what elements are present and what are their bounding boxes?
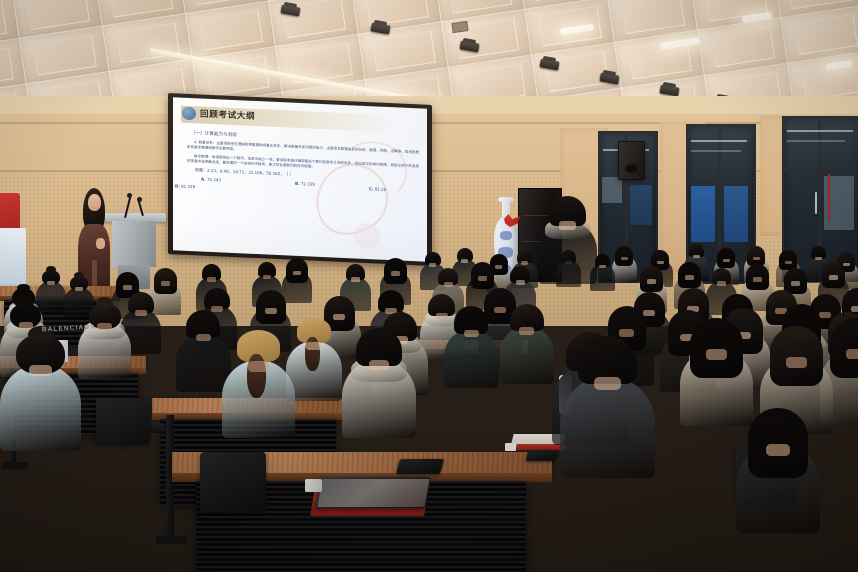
neck <box>293 271 301 275</box>
student-row4-6 <box>444 306 499 390</box>
neck <box>846 349 858 359</box>
neck <box>786 357 806 367</box>
neck <box>123 285 132 289</box>
neck <box>647 279 656 283</box>
neck <box>516 280 525 285</box>
lecture-hall-photo: 回顾考试大纲 （一）计算能力与测验 4. 数量关系：主要测查考生理解和把握事物间… <box>0 0 858 572</box>
hair-bun <box>46 266 56 272</box>
neck <box>135 310 147 316</box>
neck <box>161 281 170 285</box>
neck <box>464 330 479 338</box>
neck <box>753 257 760 261</box>
neck <box>444 282 453 287</box>
neck <box>248 361 268 371</box>
neck <box>196 334 211 342</box>
projection-screen-frame: 回顾考试大纲 （一）计算能力与测验 4. 数量关系：主要测查考生理解和把握事物间… <box>168 93 432 266</box>
presenter-head <box>88 194 101 211</box>
neck <box>75 287 83 291</box>
slide-title: 回顾考试大纲 <box>200 108 255 124</box>
neck <box>351 277 360 281</box>
neck <box>29 365 52 377</box>
neck <box>785 261 792 265</box>
torso <box>444 329 499 388</box>
hair-bun <box>96 297 113 308</box>
slide-option-c: C. 81.20 <box>369 186 386 192</box>
bullet-dot-icon <box>182 107 196 121</box>
neck <box>706 349 726 359</box>
torso <box>560 376 655 478</box>
hair-bun <box>74 272 84 278</box>
neck <box>391 271 400 275</box>
slide-option-d: D. 81.339 <box>175 184 195 190</box>
neck <box>766 444 790 456</box>
neck <box>559 221 575 229</box>
neck <box>306 342 322 350</box>
white-cup[interactable] <box>305 479 322 492</box>
student-foreground-left <box>0 330 81 455</box>
torso <box>500 326 554 384</box>
smartphone-second-desk[interactable] <box>526 450 559 461</box>
neck <box>594 377 621 391</box>
student-standing <box>538 196 597 286</box>
neck <box>207 277 216 281</box>
neck <box>685 275 694 279</box>
slide-body: （一）计算能力与测验 4. 数量关系：主要测查考生理解和把握事物间量化关系、解决… <box>187 130 419 203</box>
wall-speaker <box>618 141 645 180</box>
neck <box>829 275 838 279</box>
neck <box>753 277 762 281</box>
eraser <box>505 443 516 451</box>
neck <box>369 360 390 371</box>
slide-option-b: B. 72.339 <box>295 181 315 187</box>
student-front-hoodie <box>342 328 416 442</box>
neck <box>621 257 628 261</box>
microphone-head <box>127 193 132 198</box>
neck <box>263 275 271 279</box>
slide-option-a: A. 72.243 <box>201 177 221 183</box>
neck <box>723 259 730 263</box>
student-row4-7 <box>500 304 554 387</box>
wall-banner-white <box>0 228 26 290</box>
neck <box>519 327 534 335</box>
student-foreground-denim <box>560 336 655 482</box>
neck <box>521 261 528 265</box>
neck <box>657 261 664 265</box>
tablet-screen[interactable] <box>317 479 429 507</box>
student-back-5 <box>612 246 637 284</box>
tablet[interactable] <box>315 477 430 508</box>
neck <box>791 281 800 285</box>
hair <box>748 408 808 478</box>
neck <box>47 281 55 285</box>
neck <box>693 255 700 259</box>
smartphone-front-desk[interactable] <box>396 459 444 474</box>
neck <box>265 308 277 314</box>
neck <box>717 281 726 285</box>
neck <box>429 263 436 267</box>
student-foreground-rightmost <box>736 408 820 537</box>
projection-screen: 回顾考试大纲 （一）计算能力与测验 4. 数量关系：主要测查考生理解和把握事物间… <box>173 97 427 262</box>
student-front-fleece <box>222 330 295 442</box>
torso <box>0 364 81 451</box>
student-row4-balenciaga <box>78 300 131 382</box>
chair-front-left[interactable] <box>200 452 266 512</box>
neck <box>815 257 822 261</box>
hair <box>830 318 858 378</box>
neck <box>478 276 487 281</box>
neck <box>599 265 606 269</box>
presenter-microphone-hand <box>96 238 105 249</box>
